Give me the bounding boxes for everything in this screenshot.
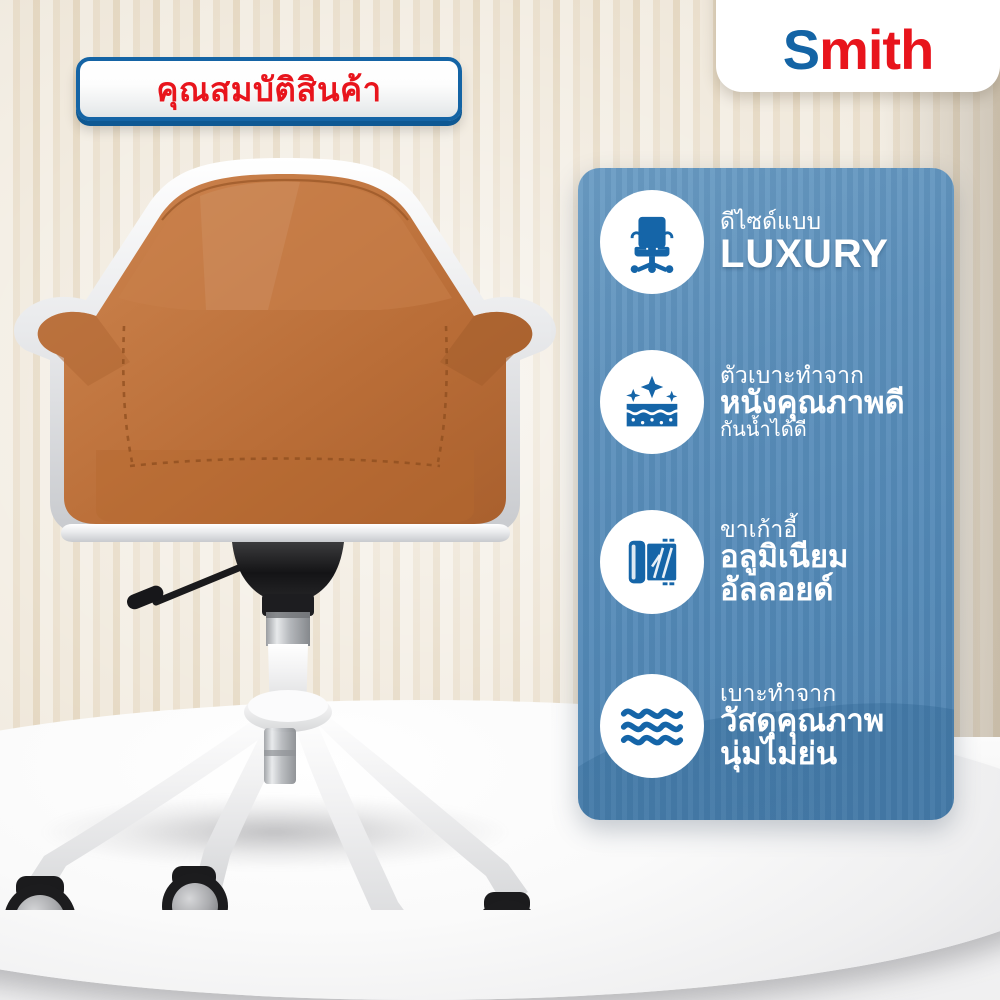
feature-text-luxury-design: ดีไซด์แบบ LUXURY [720,209,889,276]
feature-4-line-2: วัสดุคุณภาพ [720,705,884,738]
feature-1-line-2: LUXURY [720,233,889,275]
aluminium-sheet-icon [600,510,704,614]
feature-3-line-2: อลูมิเนียม [720,541,848,574]
brand-logo-mith: mith [819,18,933,81]
cushion-sparkle-icon [600,350,704,454]
feature-item-leather-cushion: ตัวเบาะทำจาก หนังคุณภาพดี กันน้ำได้ดี [600,350,905,454]
feature-list-panel: ดีไซด์แบบ LUXURY [578,168,954,820]
brand-logo: Smith [716,0,1000,92]
brand-logo-text: Smith [783,22,934,78]
feature-3-line-1: ขาเก้าอี้ [720,517,848,541]
feature-2-line-3: กันน้ำได้ดี [720,420,905,441]
soft-wave-icon [600,674,704,778]
feature-2-line-1: ตัวเบาะทำจาก [720,363,905,387]
feature-4-line-3: นุ่มไม่ย่น [720,738,884,771]
feature-4-line-1: เบาะทำจาก [720,681,884,705]
feature-text-leather-cushion: ตัวเบาะทำจาก หนังคุณภาพดี กันน้ำได้ดี [720,363,905,441]
page-title: คุณสมบัติสินค้า [156,73,381,106]
feature-2-line-2: หนังคุณภาพดี [720,387,905,420]
feature-text-soft-material: เบาะทำจาก วัสดุคุณภาพ นุ่มไม่ย่น [720,681,884,771]
feature-item-luxury-design: ดีไซด์แบบ LUXURY [600,190,889,294]
feature-1-line-1: ดีไซด์แบบ [720,209,889,233]
office-chair-icon [600,190,704,294]
office-chair-product-image [0,150,570,910]
product-feature-banner: คุณสมบัติสินค้า Smith [0,0,1000,1000]
brand-logo-s: S [783,18,819,81]
feature-item-soft-material: เบาะทำจาก วัสดุคุณภาพ นุ่มไม่ย่น [600,674,884,778]
feature-text-aluminium-legs: ขาเก้าอี้ อลูมิเนียม อัลลอยด์ [720,517,848,607]
feature-3-line-3: อัลลอยด์ [720,574,848,607]
feature-item-aluminium-legs: ขาเก้าอี้ อลูมิเนียม อัลลอยด์ [600,510,848,614]
page-title-badge: คุณสมบัติสินค้า [76,57,462,121]
